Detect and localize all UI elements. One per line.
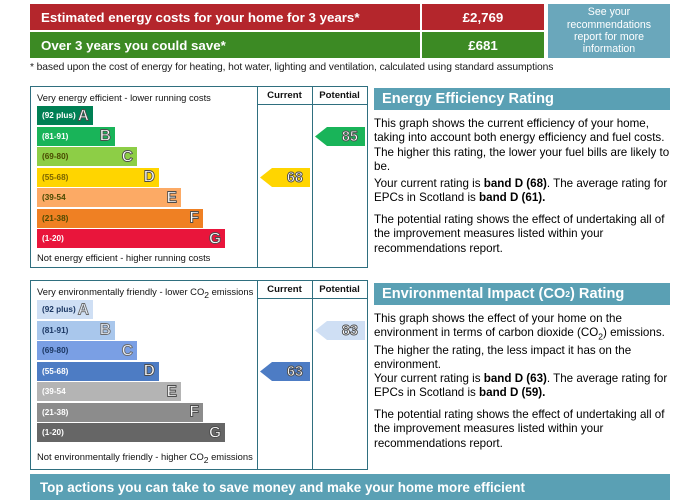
epc-band-letter-c: C — [122, 149, 133, 165]
epc-band-letter-g: G — [209, 231, 221, 247]
co2-band-letter-g: G — [209, 425, 221, 441]
epc-caption-top: Very energy efficient - lower running co… — [37, 92, 211, 103]
co2-caption-bottom-subscript: 2 — [204, 455, 209, 465]
co2-band-letter-c: C — [122, 343, 133, 359]
co2-caption-bottom: Not environmentally friendly - higher CO… — [37, 451, 253, 465]
co2-potential-rating-arrow: 83 — [315, 321, 365, 340]
epc-paragraph-3: The potential rating shows the effect of… — [374, 213, 670, 256]
co2-band-range-c: (69-80) — [37, 346, 68, 355]
epc-band-range-c: (69-80) — [37, 152, 68, 161]
estimated-costs-header: Estimated energy costs for your home for… — [30, 4, 670, 58]
co2-band-range-e: (39-54 — [37, 387, 66, 396]
co2-band-letter-b: B — [100, 322, 111, 338]
co2-band-letter-e: E — [167, 384, 177, 400]
epc-band-range-e: (39-54 — [37, 193, 66, 202]
co2-band-range-d: (55-68) — [37, 367, 68, 376]
co2-paragraph-3: The potential rating shows the effect of… — [374, 408, 670, 451]
epc-band-range-d: (55-68) — [37, 173, 68, 182]
co2-p2-text-a: Your current rating is — [374, 372, 484, 385]
co2-p1-text-a: This graph shows the effect of your home… — [374, 312, 622, 339]
co2-band-letter-d: D — [144, 363, 155, 379]
epc-band-range-a: (92 plus) — [37, 111, 76, 120]
epc-band-range-f: (21-38) — [37, 214, 68, 223]
co2-band-letter-f: F — [190, 404, 199, 420]
epc-band-letter-a: A — [78, 108, 89, 124]
co2-band-letter-a: A — [78, 302, 89, 318]
epc-band-bar-g: (1-20) G — [37, 229, 225, 248]
co2-paragraph-2: Your current rating is band D (63). The … — [374, 372, 670, 401]
co2-current-rating-arrow: 63 — [260, 362, 310, 381]
epc-band-bar-b: (81-91) B — [37, 127, 115, 146]
epc-current-rating-arrow: 68 — [260, 168, 310, 187]
co2-p2-current-band: band D (63) — [484, 372, 547, 385]
co2-column-divider-potential — [312, 281, 313, 469]
epc-paragraph-2: Your current rating is band D (68). The … — [374, 177, 670, 206]
co2-band-bar-e: (39-54 E — [37, 382, 181, 401]
co2-band-bar-f: (21-38) F — [37, 403, 203, 422]
energy-efficiency-chart: Very energy efficient - lower running co… — [30, 86, 368, 268]
epc-column-header-rule — [257, 104, 368, 105]
epc-p2-text-a: Your current rating is — [374, 177, 484, 190]
co2-band-bar-d: (55-68) D — [37, 362, 159, 381]
epc-band-letter-d: D — [144, 169, 155, 185]
epc-potential-rating-arrow: 85 — [315, 127, 365, 146]
co2-band-range-b: (81-91) — [37, 326, 68, 335]
epc-caption-bottom: Not energy efficient - higher running co… — [37, 252, 210, 263]
costs-footnote: * based upon the cost of energy for heat… — [30, 62, 553, 73]
co2-heading-text-pre: Environmental Impact (CO — [382, 286, 565, 302]
epc-band-bar-d: (55-68) D — [37, 168, 159, 187]
co2-column-header-rule — [257, 298, 368, 299]
epc-band-range-b: (81-91) — [37, 132, 68, 141]
epc-band-letter-f: F — [190, 210, 199, 226]
epc-band-bar-c: (69-80) C — [37, 147, 137, 166]
co2-caption-top: Very environmentally friendly - lower CO… — [37, 286, 253, 300]
estimated-cost-label: Estimated energy costs for your home for… — [30, 4, 420, 30]
co2-band-bar-b: (81-91) B — [37, 321, 115, 340]
top-actions-banner: Top actions you can take to save money a… — [30, 474, 670, 500]
epc-column-header-current: Current — [257, 90, 312, 101]
co2-p2-average-band: band D (59). — [479, 386, 545, 399]
co2-paragraph-1: This graph shows the effect of your home… — [374, 312, 670, 373]
epc-column-divider-current — [257, 87, 258, 267]
epc-band-range-g: (1-20) — [37, 234, 64, 243]
co2-band-bar-c: (69-80) C — [37, 341, 137, 360]
epc-paragraph-1: This graph shows the current efficiency … — [374, 117, 670, 174]
co2-caption-top-subscript: 2 — [204, 290, 209, 300]
recommendations-note: See your recommendations report for more… — [548, 4, 670, 58]
epc-p2-current-band: band D (68) — [484, 177, 547, 190]
epc-p2-average-band: band D (61). — [479, 191, 545, 204]
co2-band-bar-a: (92 plus) A — [37, 300, 93, 319]
co2-band-range-f: (21-38) — [37, 408, 68, 417]
co2-column-header-current: Current — [257, 284, 312, 295]
energy-efficiency-rating-heading: Energy Efficiency Rating — [374, 88, 670, 110]
co2-band-range-g: (1-20) — [37, 428, 64, 437]
estimated-cost-value: £2,769 — [420, 4, 544, 30]
co2-heading-text-post: ) Rating — [570, 286, 624, 302]
environmental-impact-chart: Very environmentally friendly - lower CO… — [30, 280, 368, 470]
co2-band-bar-g: (1-20) G — [37, 423, 225, 442]
epc-band-letter-e: E — [167, 190, 177, 206]
potential-saving-value: £681 — [420, 32, 544, 58]
epc-certificate-page: Estimated energy costs for your home for… — [0, 0, 700, 500]
co2-column-header-potential: Potential — [312, 284, 367, 295]
epc-band-bar-e: (39-54 E — [37, 188, 181, 207]
epc-column-divider-potential — [312, 87, 313, 267]
epc-band-bar-f: (21-38) F — [37, 209, 203, 228]
co2-band-range-a: (92 plus) — [37, 305, 76, 314]
epc-column-header-potential: Potential — [312, 90, 367, 101]
epc-band-letter-b: B — [100, 128, 111, 144]
potential-saving-label: Over 3 years you could save* — [30, 32, 420, 58]
epc-band-bar-a: (92 plus) A — [37, 106, 93, 125]
environmental-impact-rating-heading: Environmental Impact (CO2) Rating — [374, 283, 670, 305]
co2-column-divider-current — [257, 281, 258, 469]
